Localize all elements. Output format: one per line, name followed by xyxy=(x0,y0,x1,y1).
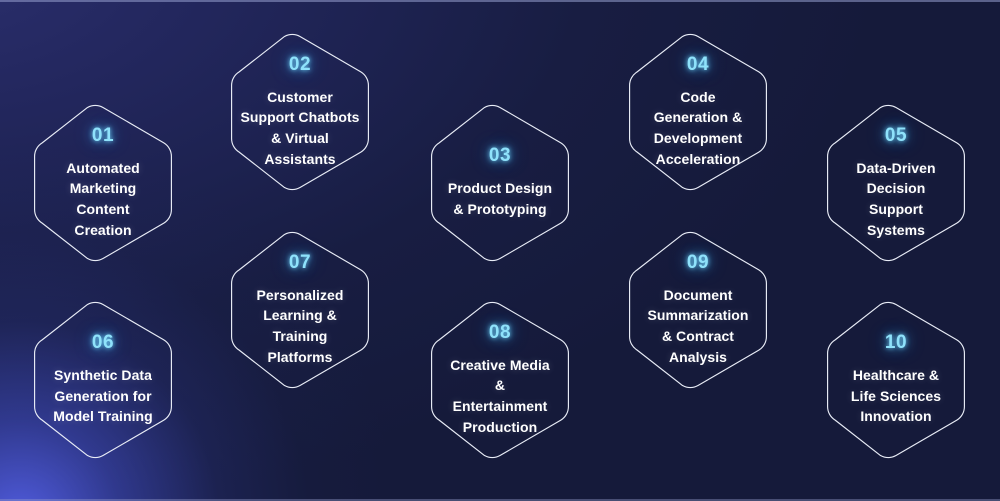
hexagon-label-line: Generation & xyxy=(654,107,743,128)
hexagon-content: 04CodeGeneration &DevelopmentAcceleratio… xyxy=(623,55,773,169)
hexagon-content: 09DocumentSummarization& ContractAnalysi… xyxy=(623,253,773,367)
hexagon-label: Synthetic DataGeneration forModel Traini… xyxy=(53,365,152,427)
hexagon-card-01[interactable]: 01AutomatedMarketingContentCreation xyxy=(24,104,182,262)
hexagon-content: 08Creative Media&EntertainmentProduction xyxy=(425,323,575,437)
hexagon-label: AutomatedMarketingContentCreation xyxy=(66,158,140,240)
hexagon-label-line: Acceleration xyxy=(654,149,743,170)
hexagon-label-line: Innovation xyxy=(851,406,941,427)
hexagon-label: Healthcare &Life SciencesInnovation xyxy=(851,365,941,427)
hexagon-label-line: Learning & xyxy=(257,305,344,326)
hexagon-label-line: Assistants xyxy=(240,149,359,170)
hexagon-label-line: Entertainment xyxy=(450,396,550,417)
hexagon-card-06[interactable]: 06Synthetic DataGeneration forModel Trai… xyxy=(24,301,182,459)
hexagon-label-line: Creative Media xyxy=(450,355,550,376)
hexagon-card-04[interactable]: 04CodeGeneration &DevelopmentAcceleratio… xyxy=(619,33,777,191)
hexagon-number: 01 xyxy=(92,126,114,145)
hexagon-label: Creative Media&EntertainmentProduction xyxy=(450,355,550,437)
hexagon-number: 06 xyxy=(92,333,114,352)
hexagon-label-line: Training xyxy=(257,326,344,347)
hexagon-card-10[interactable]: 10Healthcare &Life SciencesInnovation xyxy=(817,301,975,459)
hexagon-card-07[interactable]: 07PersonalizedLearning &TrainingPlatform… xyxy=(221,231,379,389)
hexagon-number: 08 xyxy=(489,323,511,342)
hexagon-label-line: Platforms xyxy=(257,347,344,368)
hexagon-card-09[interactable]: 09DocumentSummarization& ContractAnalysi… xyxy=(619,231,777,389)
hexagon-label-line: & Prototyping xyxy=(448,199,552,220)
hexagon-label-line: Synthetic Data xyxy=(53,365,152,386)
hexagon-label-line: Generation for xyxy=(53,386,152,407)
hexagon-label-line: Summarization xyxy=(647,305,748,326)
hexagon-label-line: Personalized xyxy=(257,285,344,306)
hexagon-label-line: & Virtual xyxy=(240,128,359,149)
hexagon-label-line: Systems xyxy=(856,220,935,241)
hexagon-label-line: Automated xyxy=(66,158,140,179)
hexagon-content: 02CustomerSupport Chatbots& VirtualAssis… xyxy=(225,55,375,169)
hexagon-label: PersonalizedLearning &TrainingPlatforms xyxy=(257,285,344,367)
hexagon-content: 10Healthcare &Life SciencesInnovation xyxy=(821,333,971,427)
infographic-canvas: 01AutomatedMarketingContentCreation02Cus… xyxy=(0,0,1000,501)
hexagon-number: 10 xyxy=(885,333,907,352)
hexagon-label-line: Support xyxy=(856,199,935,220)
hexagon-card-02[interactable]: 02CustomerSupport Chatbots& VirtualAssis… xyxy=(221,33,379,191)
hexagon-number: 04 xyxy=(687,55,709,74)
hexagon-label-line: & xyxy=(450,375,550,396)
hexagon-label: DocumentSummarization& ContractAnalysis xyxy=(647,285,748,367)
hexagon-card-08[interactable]: 08Creative Media&EntertainmentProduction xyxy=(421,301,579,459)
hexagon-card-05[interactable]: 05Data-DrivenDecisionSupportSystems xyxy=(817,104,975,262)
hexagon-label-line: Customer xyxy=(240,87,359,108)
hexagon-label-line: Product Design xyxy=(448,178,552,199)
hexagon-number: 05 xyxy=(885,126,907,145)
hexagon-label: Product Design& Prototyping xyxy=(448,178,552,219)
hexagon-content: 07PersonalizedLearning &TrainingPlatform… xyxy=(225,253,375,367)
hexagon-label-line: Document xyxy=(647,285,748,306)
hexagon-number: 07 xyxy=(289,253,311,272)
hexagon-label: CodeGeneration &DevelopmentAcceleration xyxy=(654,87,743,169)
hexagon-number: 02 xyxy=(289,55,311,74)
hexagon-label-line: Content xyxy=(66,199,140,220)
hexagon-label-line: Life Sciences xyxy=(851,386,941,407)
hexagon-label-line: Production xyxy=(450,417,550,438)
hexagon-label: Data-DrivenDecisionSupportSystems xyxy=(856,158,935,240)
hexagon-label-line: Development xyxy=(654,128,743,149)
hexagon-content: 03Product Design& Prototyping xyxy=(425,146,575,219)
hexagon-label-line: Decision xyxy=(856,178,935,199)
hexagon-label-line: Code xyxy=(654,87,743,108)
hexagon-label-line: & Contract xyxy=(647,326,748,347)
hexagon-content: 05Data-DrivenDecisionSupportSystems xyxy=(834,126,958,240)
hexagon-label-line: Model Training xyxy=(53,406,152,427)
hexagon-label: CustomerSupport Chatbots& VirtualAssista… xyxy=(240,87,359,169)
hexagon-label-line: Healthcare & xyxy=(851,365,941,386)
hexagon-label-line: Marketing xyxy=(66,178,140,199)
hexagon-label-line: Support Chatbots xyxy=(240,107,359,128)
hexagon-content: 01AutomatedMarketingContentCreation xyxy=(41,126,165,240)
hexagon-label-line: Creation xyxy=(66,220,140,241)
hexagon-number: 03 xyxy=(489,146,511,165)
hexagon-label-line: Analysis xyxy=(647,347,748,368)
hexagon-card-03[interactable]: 03Product Design& Prototyping xyxy=(421,104,579,262)
hexagon-content: 06Synthetic DataGeneration forModel Trai… xyxy=(28,333,178,427)
hexagon-label-line: Data-Driven xyxy=(856,158,935,179)
hexagon-number: 09 xyxy=(687,253,709,272)
